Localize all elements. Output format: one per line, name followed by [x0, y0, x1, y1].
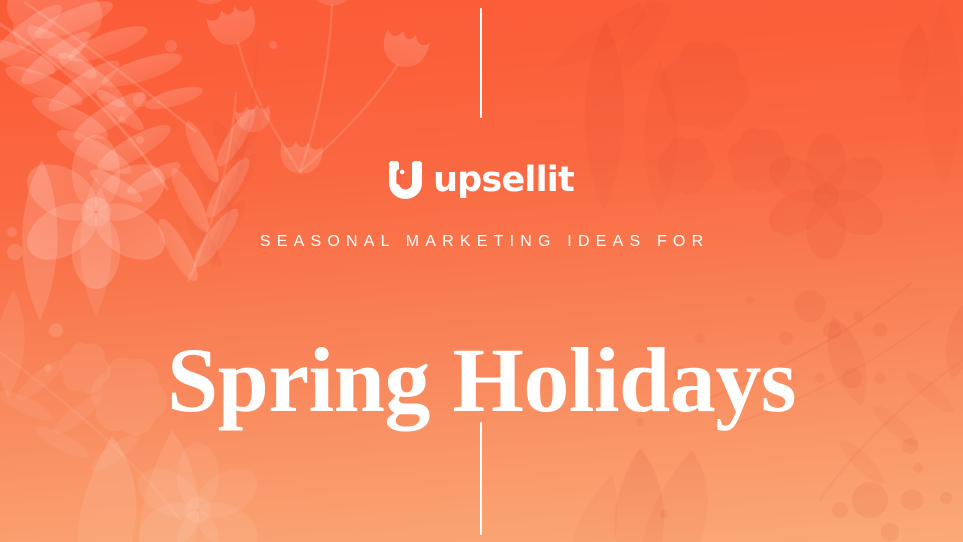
bloom-top-left — [7, 0, 102, 59]
title-slide: upsellit SEASONAL MARKETING IDEAS FOR Sp… — [0, 0, 963, 542]
divider-top — [480, 8, 482, 118]
dot-cluster-left — [7, 40, 277, 372]
leaf-pair-bottom-center — [78, 430, 199, 542]
flower-cluster-top-right — [657, 41, 891, 260]
divider-bottom — [480, 422, 482, 535]
brand-logo: upsellit — [0, 158, 963, 202]
eyebrow-text: SEASONAL MARKETING IDEAS FOR — [0, 232, 963, 251]
leaf-group-bottom-right — [572, 448, 708, 542]
brand-name: upsellit — [433, 163, 574, 198]
page-title: Spring Holidays — [0, 334, 963, 426]
fan-leaf-top-right — [548, 0, 672, 84]
tulip-group-top — [184, 0, 431, 175]
upsellit-u-mark-icon — [389, 161, 422, 199]
